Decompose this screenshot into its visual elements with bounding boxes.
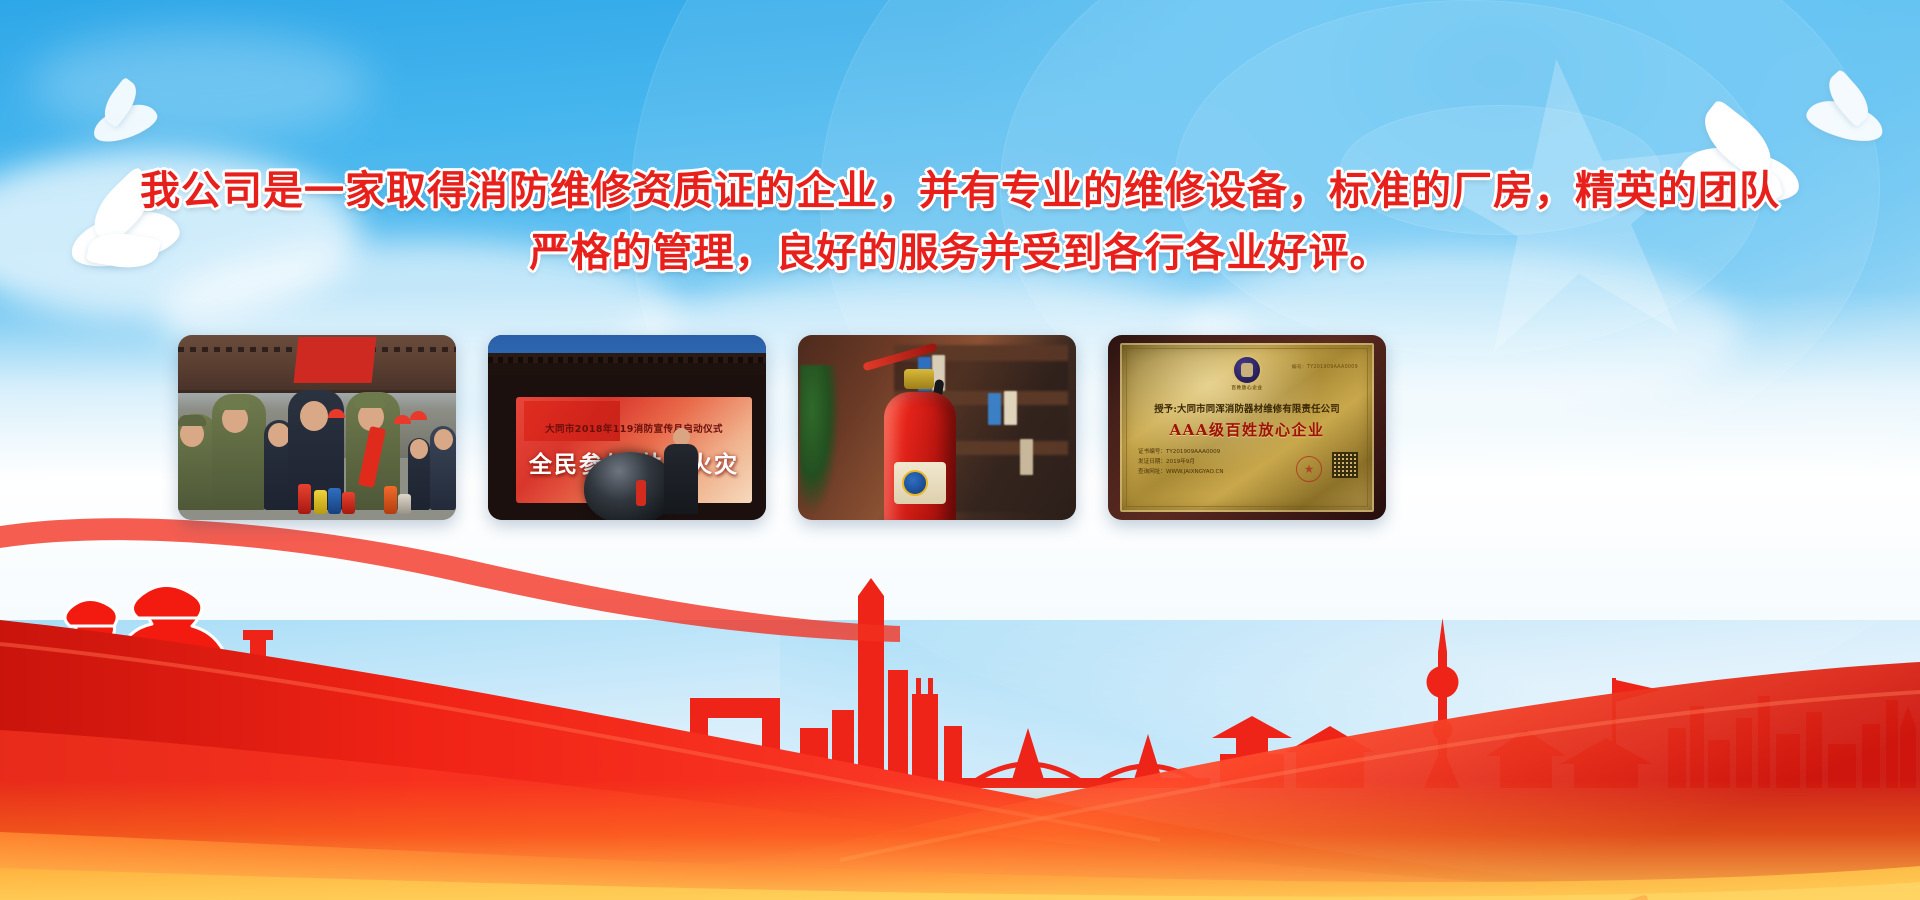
seal-caption: 百姓放心企业 [1231,385,1262,391]
certification-seal-icon [1234,357,1260,383]
photo-119-ceremony[interactable]: 大同市2018年119消防宣传月启动仪式 全民参与 共防火灾 [488,335,766,520]
plaque-issue-date: 发证日期：2019年9月 [1138,457,1224,467]
plaque-query-url: 查询网址：WWW.JAIXNGYAO.CN [1138,467,1224,477]
extinguisher-prop [636,480,646,506]
cloud-decoration [30,30,370,140]
plant-decoration [800,365,840,515]
photo-award-plaque[interactable]: 百姓放心企业 编号：TY201909AAA0009 授予:大同市同浑消防器材维修… [1108,335,1386,520]
red-stamp-icon [1296,456,1322,482]
launch-ball [584,452,676,520]
plaque-meta: 证书编号：TY201909AAA0009 发证日期：2019年9月 查询网址：W… [1138,447,1224,477]
photo-fire-extinguisher[interactable] [798,335,1076,520]
plaque-cert-no-top: 编号：TY201909AAA0009 [1292,363,1358,370]
qr-code-icon [1332,452,1358,478]
plaque-cert-no: 证书编号：TY201909AAA0009 [1138,447,1224,457]
plaque-award-title: AAA级百姓放心企业 [1120,419,1374,440]
photo-officials-inspection[interactable] [178,335,456,520]
promo-banner: 我公司是一家取得消防维修资质证的企业，并有专业的维修设备，标准的厂房，精英的团队… [0,0,1920,900]
plaque-award-to: 授予:大同市同浑消防器材维修有限责任公司 [1120,401,1374,415]
ceremony-banner-title: 大同市2018年119消防宣传月启动仪式 [516,421,752,435]
photo-gallery-strip: 大同市2018年119消防宣传月启动仪式 全民参与 共防火灾 [178,335,1386,520]
speaker-person [664,428,698,514]
